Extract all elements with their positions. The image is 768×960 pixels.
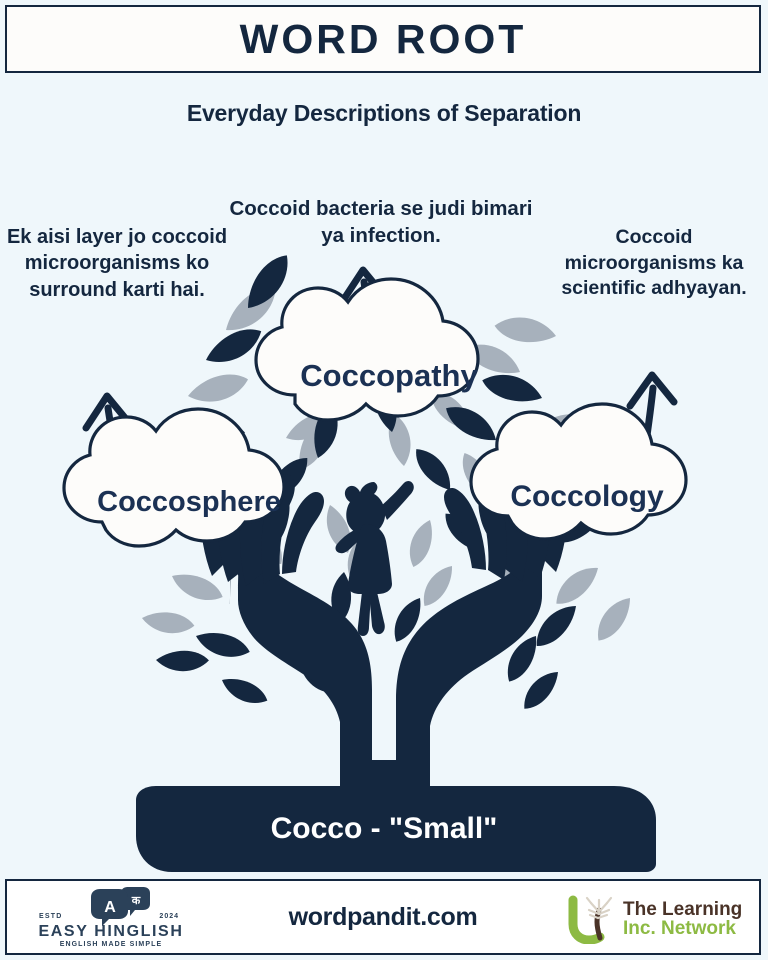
- small-tree-icon: [567, 894, 619, 944]
- logo-brand-name: EASY HINGLISH: [29, 923, 193, 941]
- page-title: WORD ROOT: [240, 19, 527, 60]
- branch-label-coccopathy: Coccopathy: [258, 358, 520, 394]
- logo-estd-label: ESTD: [39, 913, 62, 920]
- footer-bar: wordpandit.com A क ESTD 2024 EASY HINGLI…: [5, 879, 761, 955]
- easy-hinglish-logo: A क ESTD 2024 EASY HINGLISH ENGLISH MADE…: [29, 887, 193, 949]
- page-subtitle: Everyday Descriptions of Separation: [0, 100, 768, 127]
- svg-text:क: क: [131, 894, 141, 907]
- child-silhouette-icon: [336, 481, 414, 636]
- branch-label-coccosphere: Coccosphere: [55, 486, 323, 519]
- header-banner: WORD ROOT: [5, 5, 761, 73]
- logo-year-label: 2024: [159, 913, 179, 920]
- svg-text:A: A: [104, 899, 116, 916]
- learning-inc-line2: Inc. Network: [623, 919, 742, 938]
- branch-label-coccology: Coccology: [462, 480, 712, 514]
- learning-inc-network-logo: The Learning Inc. Network: [567, 893, 745, 945]
- leaf-icon: [140, 280, 639, 645]
- root-word-label: Cocco - "Small": [0, 812, 768, 846]
- tree-trunk: [238, 512, 542, 820]
- note-right: Coccoid microorganisms ka scientific adh…: [545, 225, 763, 302]
- note-top: Coccoid bacteria se judi bimari ya infec…: [222, 195, 540, 249]
- infographic-canvas: WORD ROOT Everyday Descriptions of Separ…: [0, 0, 768, 960]
- learning-inc-line1: The Learning: [623, 900, 742, 919]
- note-left: Ek aisi layer jo coccoid microorganisms …: [4, 224, 230, 303]
- hand-branch-left: [200, 441, 324, 604]
- hand-branch-right: [444, 456, 568, 582]
- logo-tagline: ENGLISH MADE SIMPLE: [29, 941, 193, 948]
- learning-inc-text: The Learning Inc. Network: [623, 900, 742, 939]
